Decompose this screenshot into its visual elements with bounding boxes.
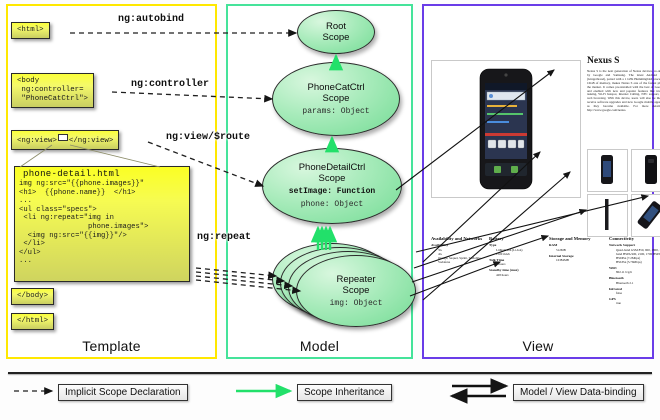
spec-header-storage: Storage and Memory	[549, 236, 605, 241]
spec-value: 1500 mAh	[489, 252, 541, 256]
callout-filename: phone-detail.html	[15, 167, 189, 180]
scope-root-line1: Root	[326, 21, 346, 32]
scope-phonedetailctrl: PhoneDetailCtrlScope setImage: Function …	[262, 148, 402, 224]
spec-value: 802.11 b/g/n	[609, 270, 660, 274]
edge-label-autobind: ng:autobind	[118, 14, 184, 25]
spec-header-battery: Battery	[489, 236, 541, 241]
edge-label-route: ng:view/$route	[166, 132, 250, 143]
legend-divider	[8, 372, 652, 374]
edge-label-repeat: ng:repeat	[197, 232, 251, 243]
product-description: Nexus S is the next generation of Nexus …	[587, 70, 660, 113]
thumbnail-2[interactable]	[631, 149, 660, 192]
spec-value: Orange, Sequel, Sprint, T-Mobile, Vodafo…	[431, 256, 483, 264]
spec-column-storage: Storage and Memory RAM 512MB Internal St…	[549, 236, 605, 262]
diagram-canvas: Template Model View <html> <body ng:cont…	[0, 0, 660, 420]
spec-value: 428 hours	[489, 273, 541, 277]
spec-value: HSUPA (5.76Mbps)	[609, 260, 660, 264]
thumbnail-1[interactable]	[587, 149, 628, 192]
scope-repeater-line2: Scope	[343, 285, 370, 296]
scope-detail-line2: Scope	[319, 173, 346, 184]
legend-item-databinding: Model / View Data-binding	[513, 384, 644, 401]
spec-value: Bluetooth 2.1	[609, 281, 660, 285]
callout-phone-detail: phone-detail.html img ng:src="{{phone.im…	[14, 166, 190, 282]
scope-cat-line1: PhoneCatCtrl	[307, 82, 364, 93]
edge-label-controller: ng:controller	[131, 79, 209, 90]
ngview-open-text: <ng:view>	[17, 137, 57, 145]
callout-code: img ng:src="{{phone.images}}" <h1> {{pho…	[15, 180, 189, 266]
scope-detail-prop-phone: phone: Object	[301, 200, 363, 210]
scope-cat-prop-params: params: Object	[302, 107, 369, 117]
spec-header-availability: Availability and Networks	[431, 236, 483, 241]
tag-ngview: <ng:view></ng:view>	[11, 130, 119, 150]
spec-value: false	[609, 291, 660, 295]
spec-column-availability: Availability and Networks Availability 3…	[431, 236, 483, 264]
tag-html-close: </html>	[11, 313, 54, 330]
phone-illustration	[432, 61, 580, 197]
scope-phonecatctrl: PhoneCatCtrlScope params: Object	[272, 62, 400, 136]
spec-value: 512MB	[549, 248, 605, 252]
scope-cat-line2: Scope	[323, 93, 350, 104]
scope-repeater-line1: Repeater	[336, 274, 375, 285]
spec-value: Quad-band GSM 850, 900, 1800, 1900 Tri-b…	[609, 248, 660, 256]
scope-detail-line1: PhoneDetailCtrl	[299, 162, 366, 173]
product-title: Nexus S	[587, 56, 619, 66]
thumbnail-4[interactable]	[631, 194, 660, 237]
tag-html-open: <html>	[11, 22, 50, 39]
scope-repeater-prop-img: img: Object	[330, 299, 383, 309]
spec-column-battery: Battery Type Lithium Ion (Li-Ion) 1500 m…	[489, 236, 541, 277]
spec-value: 6 hours	[489, 262, 541, 266]
view-rendered-page: Nexus S Nexus S is the next generation o…	[427, 10, 649, 340]
legend-item-inheritance: Scope Inheritance	[297, 384, 392, 401]
spec-value: true	[609, 301, 660, 305]
spec-column-connectivity: Connectivity Network Support Quad-band G…	[609, 236, 660, 305]
scope-detail-prop-setimage: setImage: Function	[289, 187, 375, 197]
panel-label-template: Template	[8, 338, 215, 354]
spec-header-connectivity: Connectivity	[609, 236, 660, 241]
ngview-placeholder-box	[58, 134, 68, 141]
legend-item-implicit: Implicit Scope Declaration	[58, 384, 188, 401]
scope-root-line2: Scope	[323, 32, 350, 43]
scope-repeater: RepeaterScope img: Object	[296, 255, 416, 327]
phone-hero-image-frame	[431, 60, 581, 198]
thumbnail-3[interactable]	[587, 194, 628, 237]
ngview-close-text: </ng:view>	[69, 137, 113, 145]
tag-body-open: <body ng:controller= "PhoneCatCtrl">	[11, 73, 94, 108]
panel-label-view: View	[424, 338, 652, 354]
tag-body-close: </body>	[11, 288, 54, 305]
panel-label-model: Model	[228, 338, 411, 354]
scope-root: RootScope	[297, 10, 375, 54]
spec-value: 16384MB	[549, 258, 605, 262]
